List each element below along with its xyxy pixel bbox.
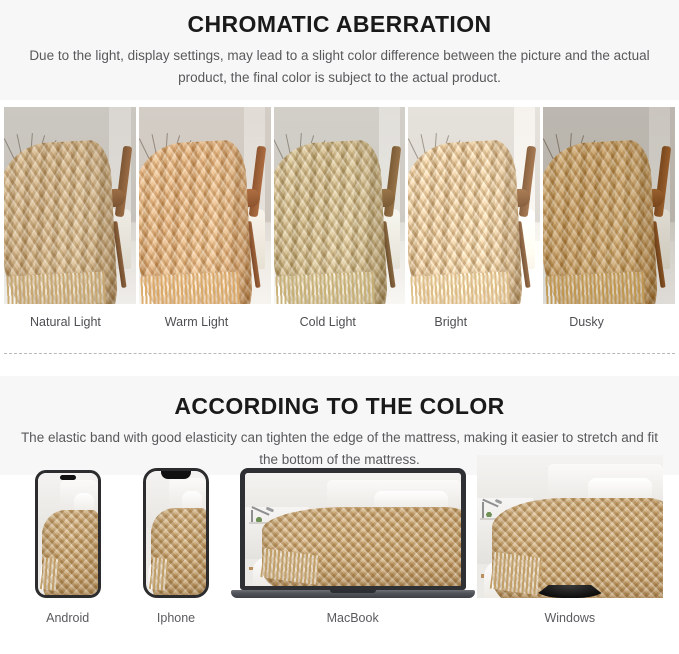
product-throw-fringe <box>275 272 374 304</box>
chromatic-variant-dusky[interactable]: Dusky <box>543 107 675 329</box>
device-preview-macbook[interactable]: MacBook <box>231 468 475 625</box>
chromatic-aberration-image-row: Natural Light <box>0 100 679 329</box>
chromatic-aberration-subtitle: Due to the light, display settings, may … <box>20 45 660 89</box>
device-label: MacBook <box>327 611 379 625</box>
potted-plant-icon <box>255 517 263 522</box>
device-label: Android <box>46 611 89 625</box>
chromatic-variant-label: Cold Light <box>274 304 406 329</box>
potted-plant-icon <box>486 511 493 517</box>
iphone-notch-icon <box>161 471 191 479</box>
desk-lamp-icon <box>251 510 253 524</box>
macbook-frame[interactable] <box>231 468 475 598</box>
product-throw-fringe <box>545 272 644 304</box>
desk-lamp-icon <box>482 502 484 519</box>
page-title: CHROMATIC ABERRATION <box>0 9 679 39</box>
device-preview-iphone[interactable]: Iphone <box>121 468 230 625</box>
device-label: Iphone <box>157 611 195 625</box>
section-title: ACCORDING TO THE COLOR <box>0 391 679 421</box>
device-preview-row: Android Iphone <box>0 475 679 625</box>
android-screen[interactable] <box>38 473 98 595</box>
macbook-screen[interactable] <box>240 468 466 590</box>
product-photo-natural-light[interactable] <box>4 107 136 304</box>
device-preview-windows[interactable]: Windows <box>475 455 665 625</box>
product-photo-cold-light[interactable] <box>274 107 406 304</box>
desk-lamp-head <box>266 507 274 513</box>
windows-monitor-frame[interactable] <box>477 455 663 598</box>
iphone-frame[interactable] <box>143 468 209 598</box>
chromatic-variant-cold-light[interactable]: Cold Light <box>274 107 406 329</box>
windows-monitor-screen[interactable] <box>477 455 663 571</box>
chromatic-variant-label: Bright <box>408 304 540 329</box>
android-phone-frame[interactable] <box>35 470 101 598</box>
chromatic-variant-label: Warm Light <box>139 304 271 329</box>
device-label: Windows <box>544 611 595 625</box>
android-camera-notch-icon <box>60 475 76 480</box>
iphone-screen[interactable] <box>146 471 206 595</box>
product-photo-dusky[interactable] <box>543 107 675 304</box>
chromatic-variant-label: Dusky <box>543 304 675 329</box>
product-photo-bright[interactable] <box>408 107 540 304</box>
chromatic-variant-bright[interactable]: Bright <box>408 107 540 329</box>
product-photo-warm-light[interactable] <box>139 107 271 304</box>
chromatic-aberration-header-band: CHROMATIC ABERRATION Due to the light, d… <box>0 0 679 100</box>
chromatic-variant-warm-light[interactable]: Warm Light <box>139 107 271 329</box>
device-preview-android[interactable]: Android <box>14 470 121 625</box>
product-throw-fringe <box>6 272 105 304</box>
chromatic-variant-natural-light[interactable]: Natural Light <box>4 107 136 329</box>
chromatic-variant-label: Natural Light <box>4 304 136 329</box>
macbook-base <box>231 590 475 598</box>
product-throw-fringe <box>141 272 240 304</box>
product-throw-fringe <box>410 272 509 304</box>
section-divider <box>4 353 675 354</box>
